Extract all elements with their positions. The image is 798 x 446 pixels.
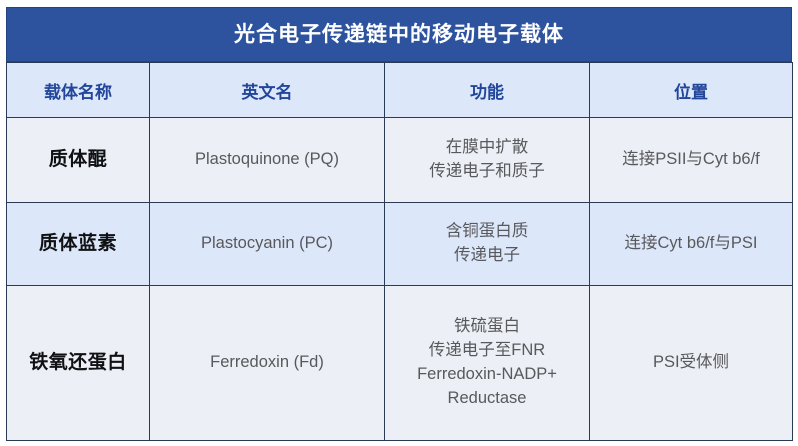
cell-text-line: 在膜中扩散	[391, 136, 583, 160]
page-title: 光合电子传递链中的移动电子载体	[234, 24, 564, 45]
table-header-row: 载体名称 英文名 功能 位置	[7, 63, 793, 118]
cell-text-line: 铁硫蛋白	[391, 315, 583, 339]
carriers-table: 载体名称 英文名 功能 位置 质体醌 Plastoquinone (PQ) 在膜…	[6, 62, 793, 441]
cell-text-line: 含铜蛋白质	[391, 220, 583, 244]
column-header-location: 位置	[590, 63, 793, 118]
cell-text-line: Ferredoxin-NADP+	[391, 363, 583, 387]
cell-text-line: 连接PSII与Cyt b6/f	[596, 148, 786, 172]
cell-english-name: Plastoquinone (PQ)	[150, 118, 385, 203]
column-header-name: 载体名称	[7, 63, 150, 118]
cell-function: 铁硫蛋白传递电子至FNRFerredoxin-NADP+Reductase	[385, 286, 590, 441]
cell-english-name: Ferredoxin (Fd)	[150, 286, 385, 441]
cell-carrier-name: 质体醌	[7, 118, 150, 203]
table-row: 质体蓝素 Plastocyanin (PC) 含铜蛋白质传递电子 连接Cyt b…	[7, 203, 793, 286]
table-title-bar: 光合电子传递链中的移动电子载体	[6, 7, 792, 62]
cell-english-name: Plastocyanin (PC)	[150, 203, 385, 286]
cell-text-line: 传递电子	[391, 244, 583, 268]
table-card: 光合电子传递链中的移动电子载体 载体名称 英文名 功能 位置 质体醌 Plast…	[0, 0, 798, 446]
cell-carrier-name: 质体蓝素	[7, 203, 150, 286]
cell-text-line: Reductase	[391, 387, 583, 411]
cell-carrier-name: 铁氧还蛋白	[7, 286, 150, 441]
table-row: 铁氧还蛋白 Ferredoxin (Fd) 铁硫蛋白传递电子至FNRFerred…	[7, 286, 793, 441]
column-header-function: 功能	[385, 63, 590, 118]
cell-text-line: 传递电子至FNR	[391, 339, 583, 363]
cell-location: PSI受体侧	[590, 286, 793, 441]
column-header-english: 英文名	[150, 63, 385, 118]
cell-function: 含铜蛋白质传递电子	[385, 203, 590, 286]
cell-location: 连接PSII与Cyt b6/f	[590, 118, 793, 203]
cell-function: 在膜中扩散传递电子和质子	[385, 118, 590, 203]
cell-text-line: PSI受体侧	[596, 351, 786, 375]
cell-location: 连接Cyt b6/f与PSI	[590, 203, 793, 286]
table-row: 质体醌 Plastoquinone (PQ) 在膜中扩散传递电子和质子 连接PS…	[7, 118, 793, 203]
cell-text-line: 连接Cyt b6/f与PSI	[596, 232, 786, 256]
cell-text-line: 传递电子和质子	[391, 160, 583, 184]
